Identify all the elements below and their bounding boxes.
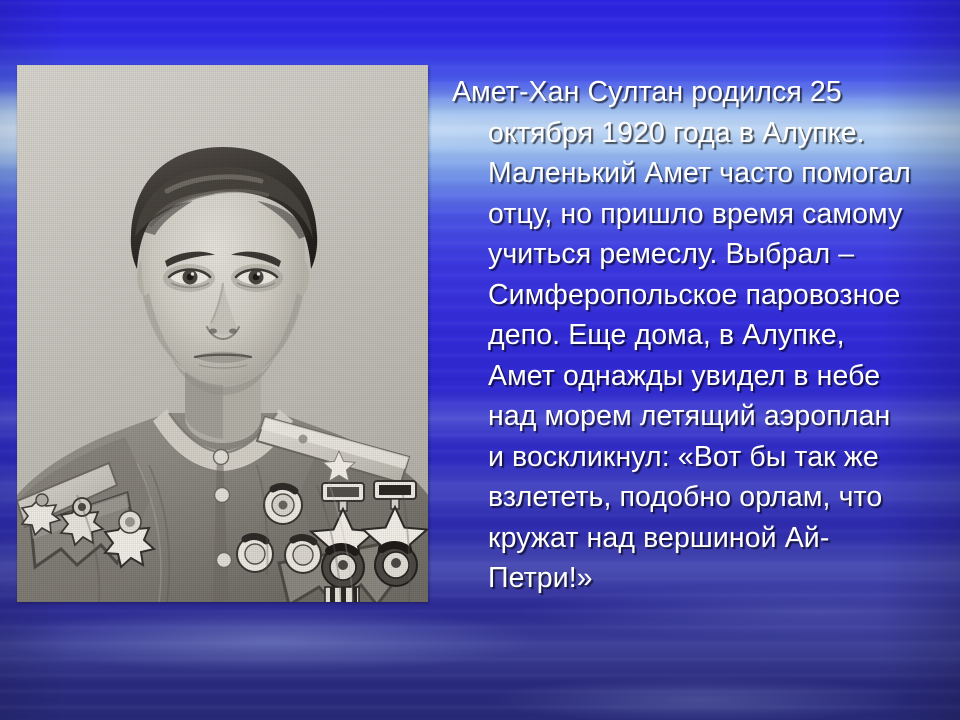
slide-body-text: Амет-Хан Султан родился 25 октября 1920 … <box>452 72 914 599</box>
portrait-photo <box>17 65 428 602</box>
slide: Амет-Хан Султан родился 25 октября 1920 … <box>0 0 960 720</box>
body-paragraph: Амет-Хан Султан родился 25 октября 1920 … <box>452 72 914 599</box>
